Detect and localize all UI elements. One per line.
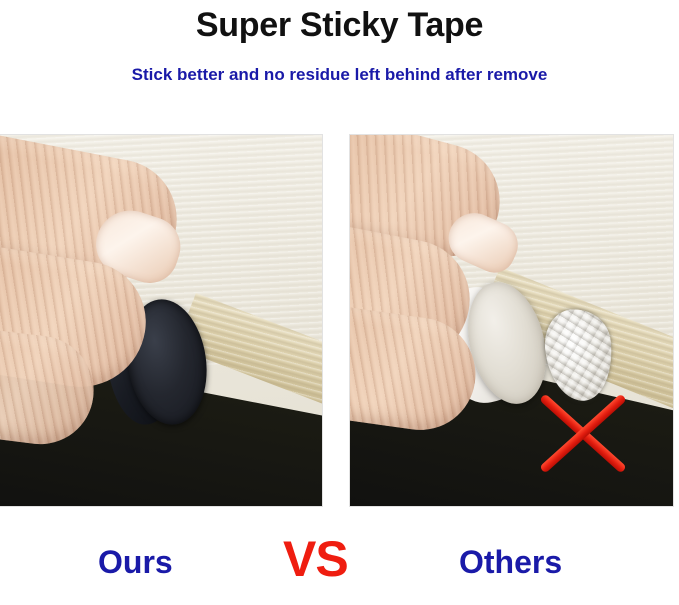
- photo-ours: [0, 135, 322, 506]
- label-vs: VS: [283, 534, 348, 584]
- page-title: Super Sticky Tape: [0, 4, 679, 46]
- red-x-mark-icon: [528, 383, 638, 483]
- photo-others: [350, 135, 673, 506]
- scene-others: [350, 135, 673, 506]
- product-comparison-infographic: Super Sticky Tape Stick better and no re…: [0, 0, 679, 605]
- page-subtitle: Stick better and no residue left behind …: [0, 63, 679, 87]
- scene-ours: [0, 135, 322, 506]
- label-ours: Ours: [98, 546, 173, 578]
- label-others: Others: [459, 546, 562, 578]
